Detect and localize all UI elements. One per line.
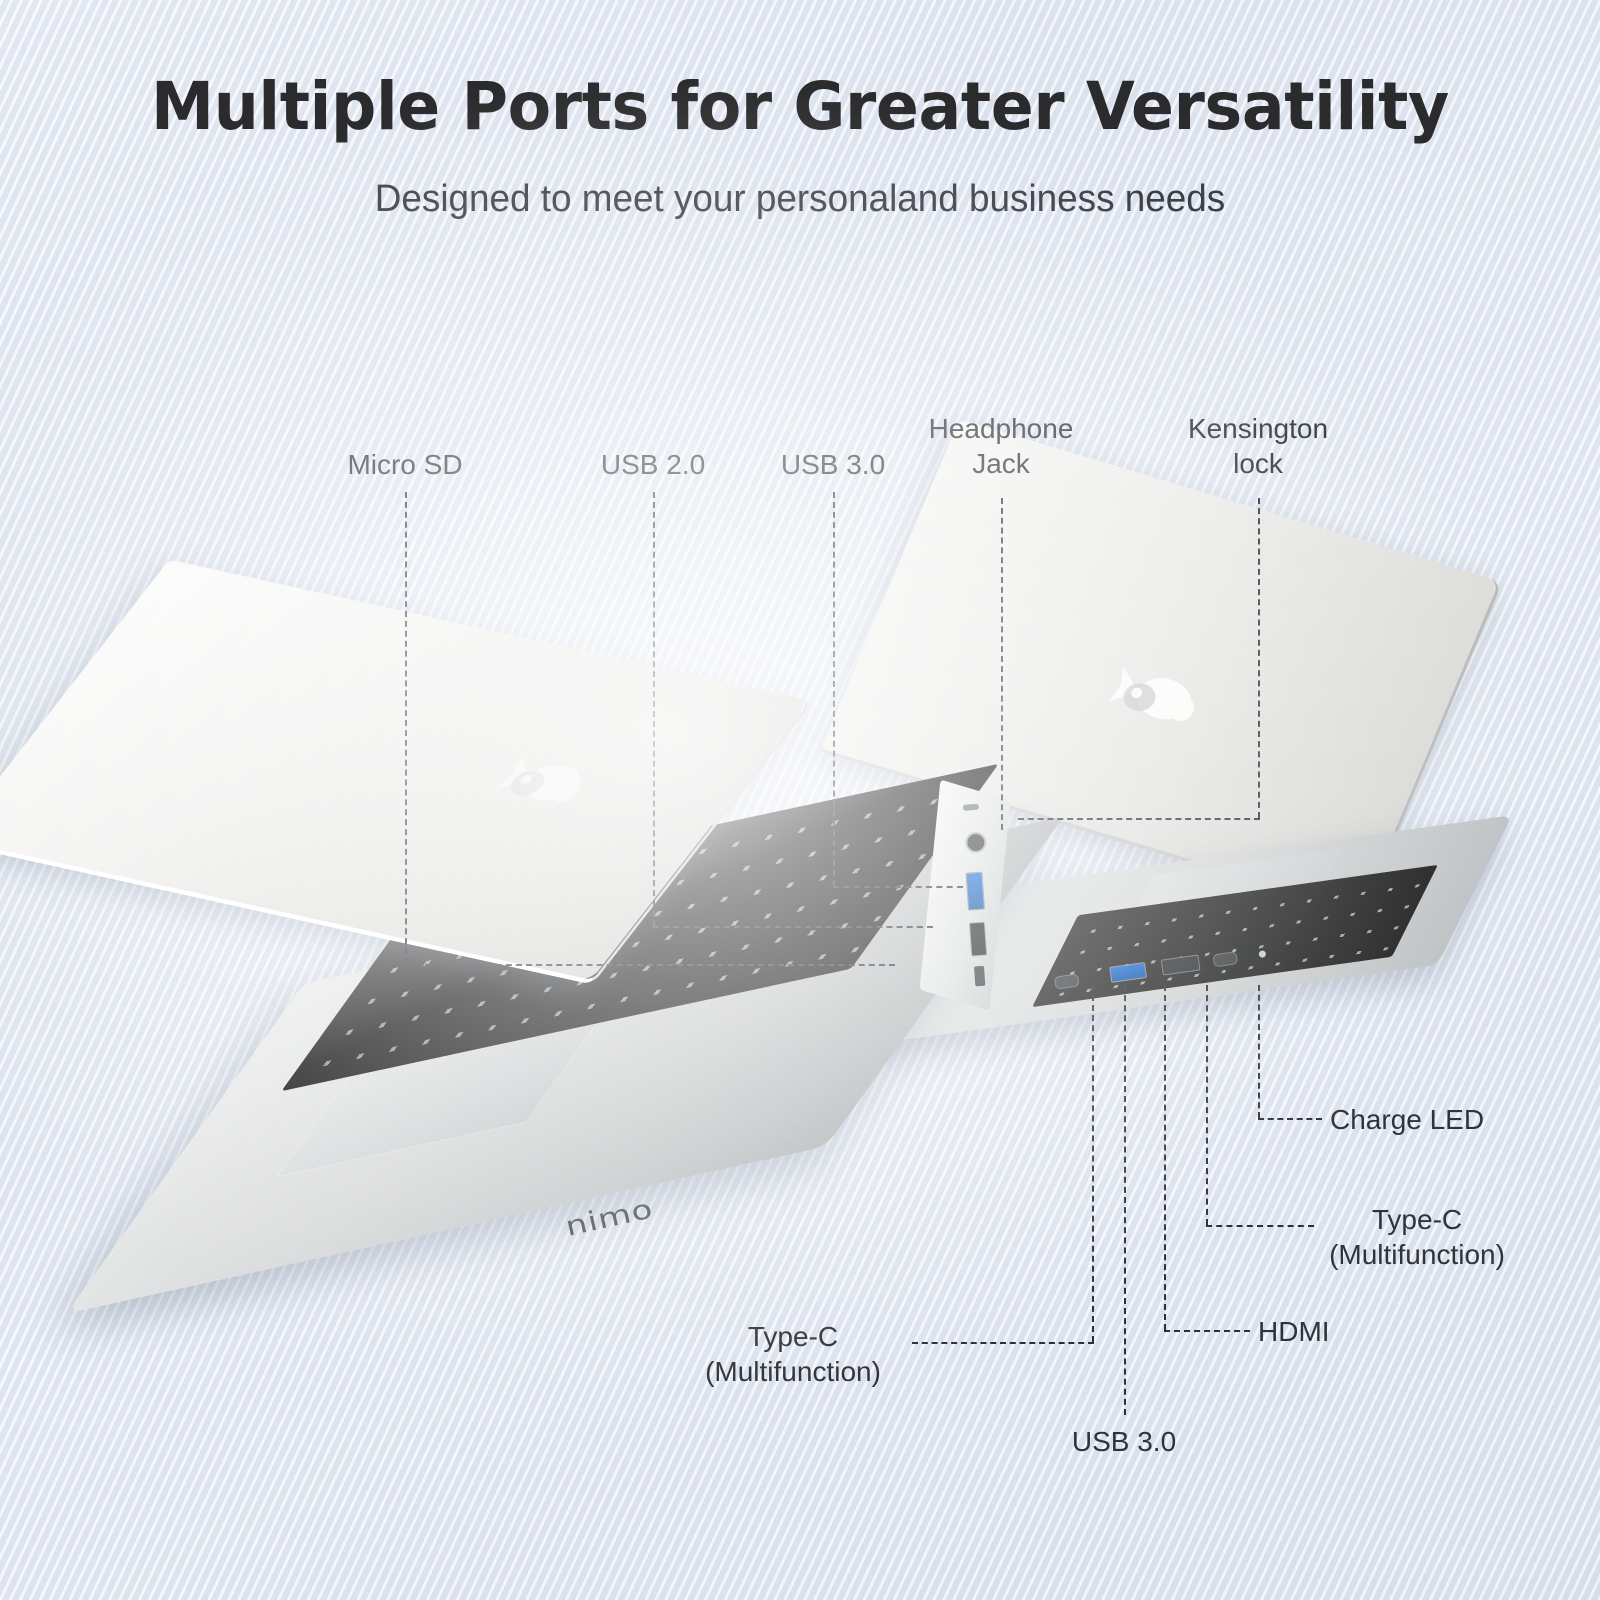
leader-line-hdmi-vertical: [1164, 985, 1166, 1330]
callout-label-hdmi: HDMI: [1258, 1315, 1458, 1350]
headphone-jack: [965, 831, 987, 853]
leader-line-charge-led-vertical: [1258, 985, 1260, 1118]
page-title: Multiple Ports for Greater Versatility: [32, 74, 1568, 140]
leader-line-micro-sd-vertical: [405, 492, 407, 964]
leader-line-kensington-vertical: [1258, 498, 1260, 818]
charge-led: [1258, 950, 1266, 958]
usb-2-port: [969, 922, 987, 957]
callout-label-kensington-lock: Kensington lock: [1148, 412, 1368, 481]
leader-line-usb-3-bottom: [1124, 985, 1126, 1415]
callout-label-type-c-left: Type-C (Multifunction): [668, 1320, 918, 1389]
leader-line-usb-2-horizontal: [653, 926, 933, 928]
leader-line-usb-3-left-horizontal: [833, 886, 963, 888]
leader-line-headphone-jack: [1001, 498, 1003, 830]
leader-line-charge-led-horizontal: [1258, 1118, 1322, 1120]
type-c-port-2: [1212, 951, 1238, 967]
leader-line-micro-sd-horizontal: [405, 964, 895, 966]
leader-line-type-c-left-vertical: [1092, 985, 1094, 1342]
callout-label-type-c-right: Type-C (Multifunction): [1272, 1203, 1562, 1272]
callout-label-micro-sd: Micro SD: [275, 448, 535, 483]
infographic-canvas: Multiple Ports for Greater Versatility D…: [0, 0, 1600, 1600]
leader-line-type-c-right-vertical: [1206, 985, 1208, 1225]
callout-label-charge-led: Charge LED: [1330, 1103, 1580, 1138]
hdmi-port: [1161, 955, 1201, 976]
page-subtitle: Designed to meet your personaland busine…: [24, 178, 1576, 221]
leader-line-type-c-left-horizontal: [912, 1342, 1094, 1344]
leader-line-usb-2-vertical: [653, 492, 655, 926]
type-c-port: [1054, 973, 1080, 989]
kensington-lock-slot: [963, 804, 979, 811]
callout-label-usb-3-bottom: USB 3.0: [1014, 1425, 1234, 1460]
callout-label-headphone-jack: Headphone Jack: [891, 412, 1111, 481]
leader-line-usb-3-left-vertical: [833, 492, 835, 886]
micro-sd-slot: [974, 966, 985, 987]
usb-3-port: [1109, 962, 1147, 983]
leader-line-hdmi-horizontal: [1164, 1330, 1250, 1332]
leader-line-kensington-horizontal: [1018, 818, 1260, 820]
usb-3-port: [965, 872, 985, 911]
